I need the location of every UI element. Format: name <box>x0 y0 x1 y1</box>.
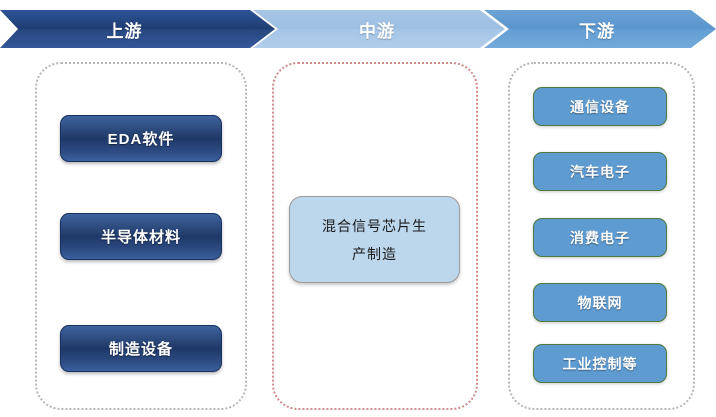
upstream-item-semiconductor-materials[interactable]: 半导体材料 <box>60 213 222 260</box>
chevron-downstream[interactable]: 下游 <box>484 10 716 48</box>
downstream-item-consumer-electronics[interactable]: 消费电子 <box>533 218 667 257</box>
downstream-item-label: 消费电子 <box>570 228 630 248</box>
downstream-item-label: 汽车电子 <box>570 162 630 182</box>
midstream-item-label-line2: 产制造 <box>338 240 411 268</box>
downstream-item-automotive-electronics[interactable]: 汽车电子 <box>533 152 667 191</box>
downstream-item-industrial-control[interactable]: 工业控制等 <box>533 344 667 383</box>
upstream-item-label: 半导体材料 <box>101 226 181 247</box>
chevron-upstream[interactable]: 上游 <box>0 10 275 48</box>
downstream-item-label: 通信设备 <box>570 97 630 117</box>
chevron-downstream-label: 下游 <box>579 17 621 42</box>
downstream-item-communication-equipment[interactable]: 通信设备 <box>533 87 667 126</box>
upstream-item-eda-software[interactable]: EDA软件 <box>60 115 222 162</box>
downstream-item-label: 工业控制等 <box>563 354 638 374</box>
downstream-item-internet-of-things[interactable]: 物联网 <box>533 283 667 322</box>
upstream-item-label: EDA软件 <box>108 128 175 149</box>
upstream-item-label: 制造设备 <box>109 338 173 359</box>
pipeline-banner: 上游 中游 下游 <box>0 10 716 48</box>
chevron-upstream-label: 上游 <box>107 17 169 42</box>
midstream-item-mixed-signal-chip-fabrication[interactable]: 混合信号芯片生 产制造 <box>289 196 460 283</box>
upstream-item-manufacturing-equipment[interactable]: 制造设备 <box>60 325 222 372</box>
chevron-midstream-label: 中游 <box>359 17 399 42</box>
midstream-item-label-line1: 混合信号芯片生 <box>308 212 441 240</box>
chevron-midstream[interactable]: 中游 <box>253 10 505 48</box>
downstream-item-label: 物联网 <box>578 293 623 313</box>
